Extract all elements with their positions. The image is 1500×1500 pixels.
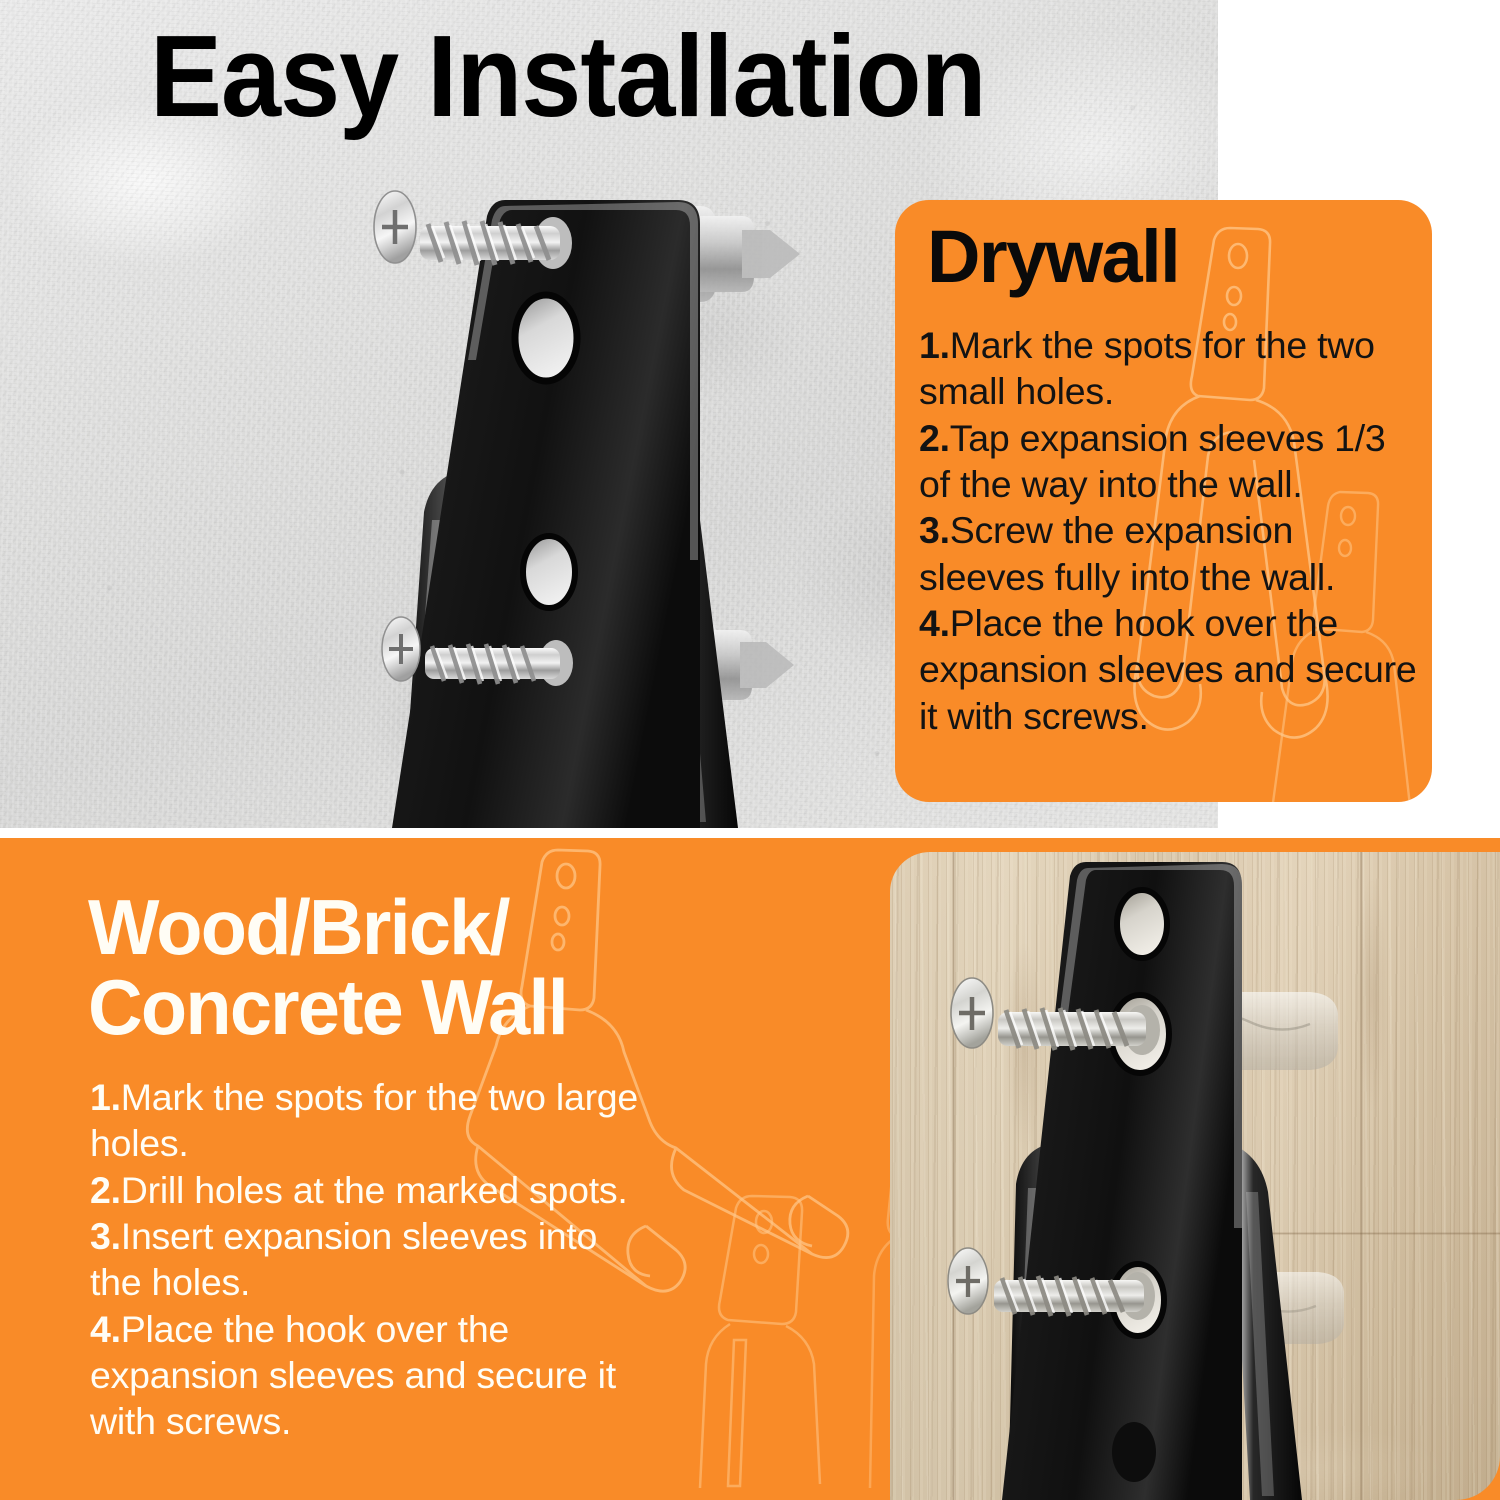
hook-bracket-on-wood-illustration	[890, 852, 1500, 1500]
drywall-step-1-text: Mark the spots for the two small holes.	[919, 324, 1375, 412]
wood-step-3-text: Insert expansion sleeves into the holes.	[90, 1215, 597, 1303]
wood-heading-line-1: Wood/Brick/	[88, 888, 567, 968]
wood-step-1-text: Mark the spots for the two large holes.	[90, 1076, 638, 1164]
product-infographic: Easy Installation Drywall	[0, 0, 1500, 1500]
hook-mounting-plate	[1002, 862, 1242, 1500]
drywall-step-3-text: Screw the expansion sleeves fully into t…	[919, 509, 1335, 597]
wood-wall-photo	[890, 852, 1500, 1500]
drywall-step-2-text: Tap expansion sleeves 1/3 of the way int…	[919, 417, 1386, 505]
drywall-heading: Drywall	[927, 216, 1179, 299]
wood-step-3-number: 3.	[90, 1215, 121, 1257]
drywall-instructions-card: Drywall 1.Mark the spots for the two sma…	[895, 200, 1432, 802]
wood-step-4: 4.Place the hook over the expansion slee…	[90, 1306, 650, 1445]
drywall-step-1-number: 1.	[919, 324, 950, 366]
wood-step-1: 1.Mark the spots for the two large holes…	[90, 1074, 650, 1167]
drywall-step-4: 4.Place the hook over the expansion slee…	[919, 600, 1419, 739]
wood-brick-concrete-heading: Wood/Brick/ Concrete Wall	[88, 888, 567, 1047]
drywall-step-4-text: Place the hook over the expansion sleeve…	[919, 602, 1417, 737]
drywall-step-2: 2.Tap expansion sleeves 1/3 of the way i…	[919, 415, 1419, 508]
drywall-step-1: 1.Mark the spots for the two small holes…	[919, 322, 1419, 415]
wood-step-1-number: 1.	[90, 1076, 121, 1118]
drywall-steps-list: 1.Mark the spots for the two small holes…	[919, 322, 1419, 739]
wood-step-2-number: 2.	[90, 1169, 121, 1211]
wood-step-2-text: Drill holes at the marked spots.	[121, 1169, 628, 1211]
wood-heading-line-2: Concrete Wall	[88, 968, 567, 1048]
drywall-step-3: 3.Screw the expansion sleeves fully into…	[919, 507, 1419, 600]
wood-steps-list: 1.Mark the spots for the two large holes…	[90, 1074, 650, 1445]
wood-step-4-number: 4.	[90, 1308, 121, 1350]
drywall-step-3-number: 3.	[919, 509, 950, 551]
drywall-step-2-number: 2.	[919, 417, 950, 459]
wood-step-3: 3.Insert expansion sleeves into the hole…	[90, 1213, 650, 1306]
wood-step-2: 2.Drill holes at the marked spots.	[90, 1167, 650, 1213]
drywall-step-4-number: 4.	[919, 602, 950, 644]
page-title: Easy Installation	[150, 14, 986, 139]
wood-step-4-text: Place the hook over the expansion sleeve…	[90, 1308, 616, 1443]
